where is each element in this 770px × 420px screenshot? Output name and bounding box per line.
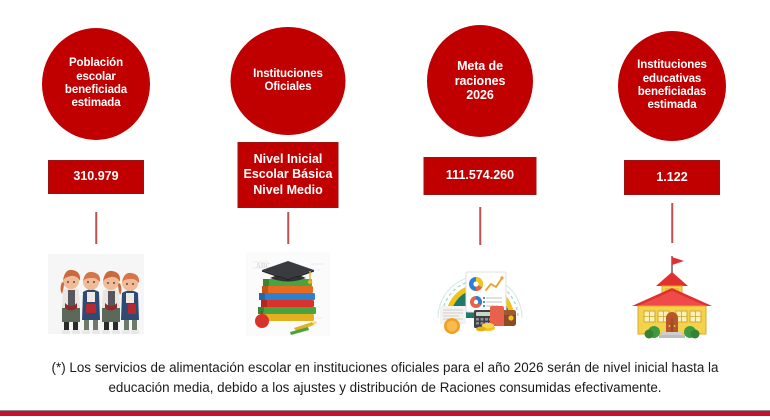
metric-column-meta-raciones: Meta de raciones 2026 111.574.260: [384, 0, 576, 355]
value-line: Escolar Básica: [244, 167, 333, 181]
school-building-icon: [616, 248, 728, 340]
connector-line: [287, 212, 289, 244]
metric-value-label: 111.574.260: [446, 168, 514, 184]
metric-value-label: Nivel Inicial Escolar Básica Nivel Medio: [244, 152, 333, 199]
value-line: Nivel Medio: [253, 183, 322, 197]
metric-column-instituciones-educativas: Instituciones educativas beneficiadas es…: [576, 0, 768, 355]
metric-oval-label: Meta de raciones 2026: [449, 59, 512, 103]
value-line: 310.979: [73, 169, 118, 183]
footnote-line-1: (*) Los servicios de alimentación escola…: [8, 358, 762, 378]
metric-oval-poblacion-escolar: Población escolar beneficiada estimada: [42, 28, 150, 140]
financial-report-icon: [424, 248, 536, 340]
school-children-icon: [40, 248, 152, 340]
oval-line: Meta de: [457, 59, 503, 73]
metric-value-box-poblacion-escolar: 310.979: [48, 160, 144, 194]
footnote-line-2: educación media, debido a los ajustes y …: [8, 378, 762, 398]
metric-value-box-meta-raciones: 111.574.260: [424, 157, 537, 195]
infographic-canvas: Población escolar beneficiada estimada 3…: [0, 0, 770, 420]
oval-line: 2026: [466, 88, 493, 102]
oval-line: educativas: [643, 73, 701, 85]
metric-oval-instituciones-oficiales: Instituciones Oficiales: [231, 27, 346, 135]
value-line: 111.574.260: [446, 168, 514, 182]
metric-column-instituciones-oficiales: Instituciones Oficiales Nivel Inicial Es…: [192, 0, 384, 355]
metric-oval-label: Instituciones Oficiales: [247, 68, 329, 95]
oval-line: escolar: [76, 71, 116, 83]
connector-line: [479, 207, 481, 245]
metric-oval-meta-raciones: Meta de raciones 2026: [427, 25, 533, 137]
metric-value-box-instituciones-oficiales: Nivel Inicial Escolar Básica Nivel Medio: [238, 142, 339, 208]
value-line: Nivel Inicial: [254, 152, 323, 166]
metric-oval-label: Población escolar beneficiada estimada: [59, 57, 133, 110]
connector-line: [95, 212, 97, 244]
bottom-accent-bar: [0, 410, 770, 416]
oval-line: Oficiales: [264, 81, 311, 93]
metric-value-label: 310.979: [73, 169, 118, 185]
oval-line: raciones: [455, 74, 506, 88]
value-line: 1.122: [656, 170, 687, 184]
oval-line: beneficiadas: [638, 86, 706, 98]
oval-line: estimada: [71, 97, 120, 109]
oval-line: estimada: [647, 99, 696, 111]
footnote-text: (*) Los servicios de alimentación escola…: [0, 358, 770, 399]
metric-oval-instituciones-educativas: Instituciones educativas beneficiadas es…: [618, 31, 726, 141]
metric-column-poblacion-escolar: Población escolar beneficiada estimada 3…: [0, 0, 192, 355]
oval-line: Instituciones: [253, 68, 323, 80]
metric-value-box-instituciones-educativas: 1.122: [624, 160, 720, 195]
metric-oval-label: Instituciones educativas beneficiadas es…: [631, 59, 713, 112]
oval-line: Instituciones: [637, 59, 707, 71]
oval-line: beneficiada: [65, 84, 127, 96]
oval-line: Población: [69, 57, 123, 69]
metric-value-label: 1.122: [656, 170, 687, 186]
graduation-books-icon: ABC: [232, 248, 344, 340]
connector-line: [671, 203, 673, 243]
